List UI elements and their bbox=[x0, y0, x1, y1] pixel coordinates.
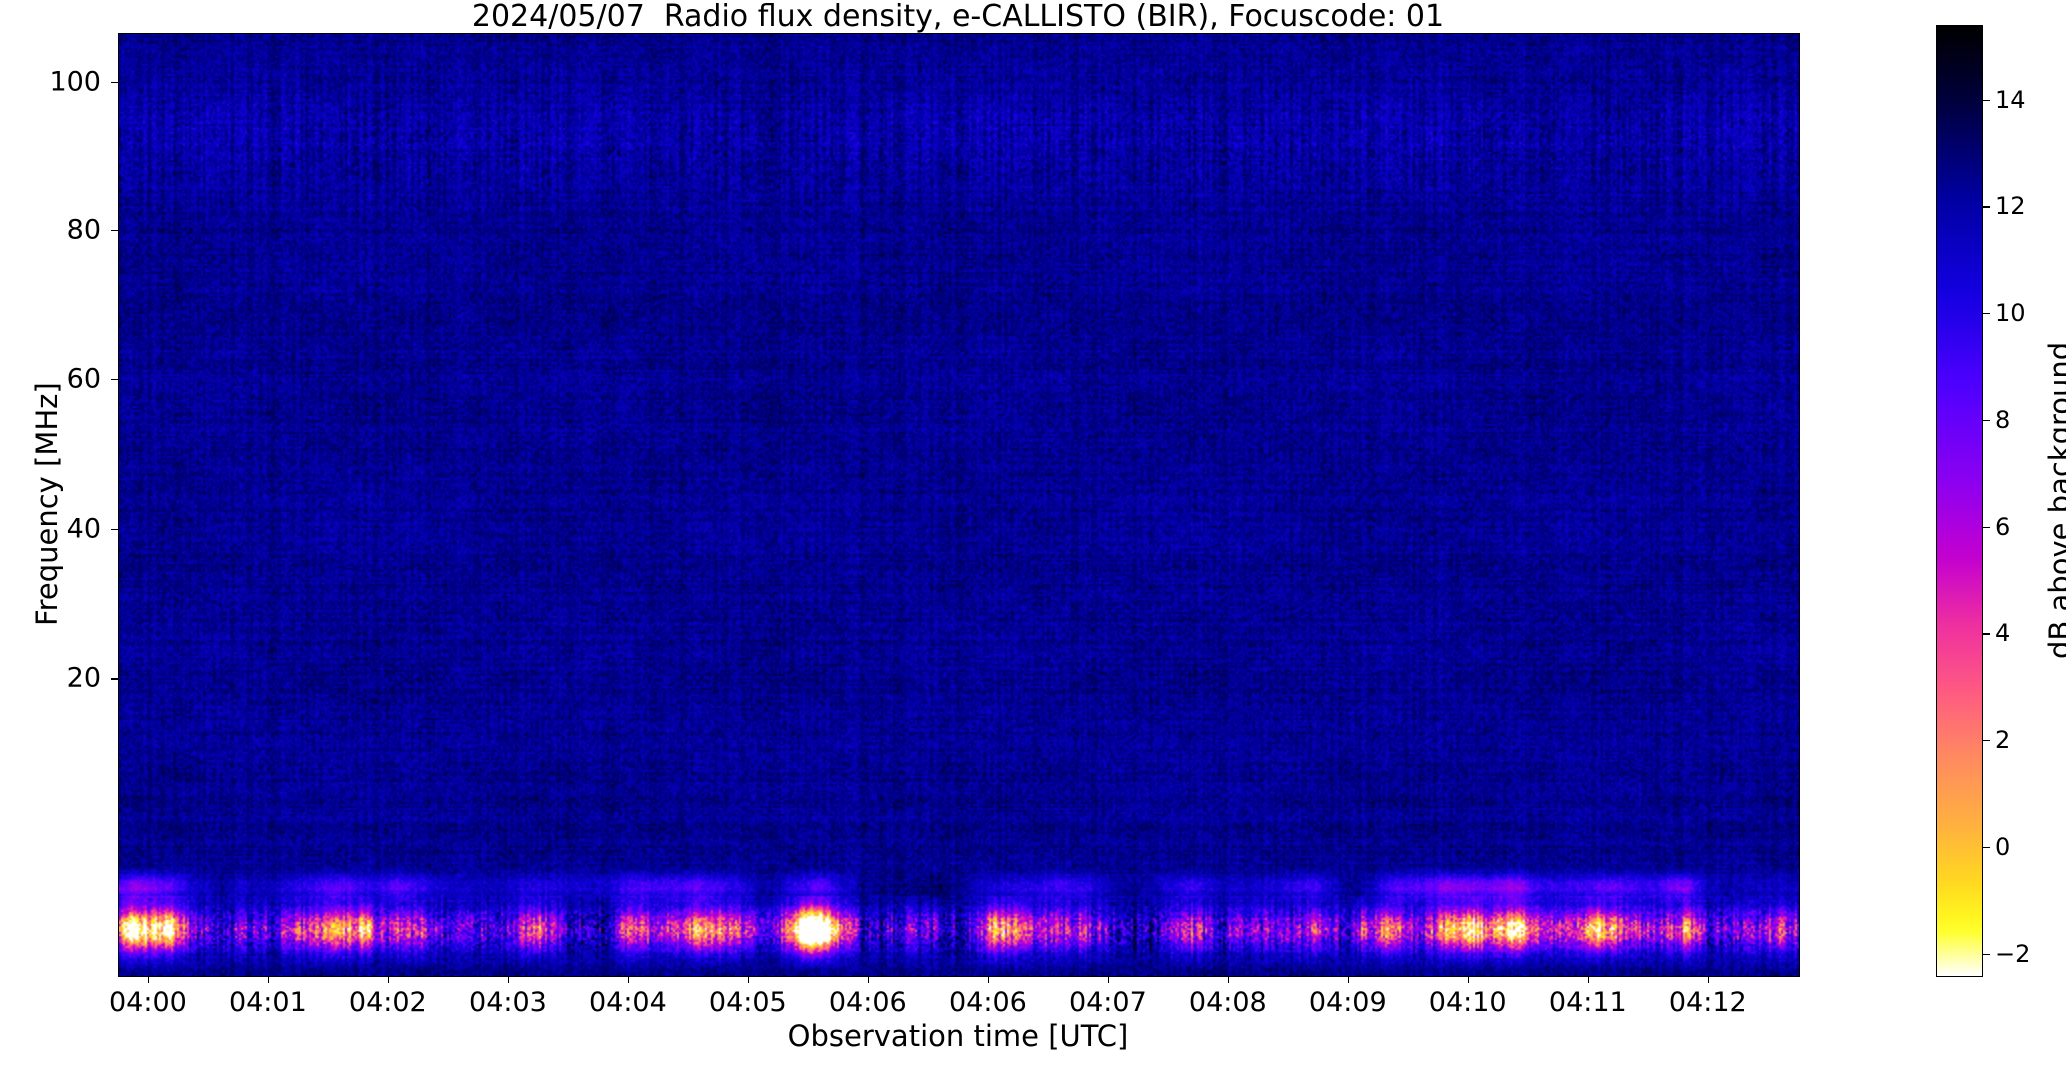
y-tick-label: 80 bbox=[1, 214, 101, 245]
y-tick-label: 20 bbox=[1, 663, 101, 694]
colorbar-tick-mark bbox=[1983, 847, 1990, 848]
x-tick-mark bbox=[1588, 976, 1589, 983]
x-tick-label: 04:07 bbox=[1069, 987, 1147, 1018]
y-tick-mark bbox=[111, 82, 118, 83]
x-tick-mark bbox=[268, 976, 269, 983]
colorbar-tick-label: −2 bbox=[1995, 940, 2030, 968]
page-title: 2024/05/07 Radio flux density, e-CALLIST… bbox=[118, 2, 1798, 32]
colorbar-tick-label: 2 bbox=[1995, 726, 2010, 754]
x-tick-label: 04:11 bbox=[1549, 987, 1627, 1018]
colorbar-tick-label: 12 bbox=[1995, 192, 2026, 220]
spectrogram-image[interactable] bbox=[119, 34, 1799, 976]
x-tick-label: 04:06 bbox=[949, 987, 1027, 1018]
x-tick-label: 04:01 bbox=[229, 987, 307, 1018]
x-tick-mark bbox=[1228, 976, 1229, 983]
colorbar-tick-mark bbox=[1983, 740, 1990, 741]
colorbar-tick-mark bbox=[1983, 100, 1990, 101]
colorbar-tick-label: 14 bbox=[1995, 86, 2026, 114]
colorbar-tick-label: 8 bbox=[1995, 406, 2010, 434]
x-tick-label: 04:05 bbox=[709, 987, 787, 1018]
y-tick-mark bbox=[111, 379, 118, 380]
colorbar-gradient bbox=[1937, 26, 1982, 976]
colorbar-tick-mark bbox=[1983, 420, 1990, 421]
colorbar[interactable] bbox=[1936, 25, 1983, 977]
x-tick-mark bbox=[388, 976, 389, 983]
x-tick-label: 04:06 bbox=[829, 987, 907, 1018]
spectrogram-figure: 2024/05/07 Radio flux density, e-CALLIST… bbox=[0, 0, 2066, 1067]
y-tick-mark bbox=[111, 529, 118, 530]
colorbar-tick-label: 6 bbox=[1995, 513, 2010, 541]
colorbar-tick-label: 4 bbox=[1995, 619, 2010, 647]
x-tick-mark bbox=[748, 976, 749, 983]
y-tick-mark bbox=[111, 230, 118, 231]
spectrogram-axes[interactable] bbox=[118, 33, 1800, 977]
x-tick-label: 04:10 bbox=[1429, 987, 1507, 1018]
colorbar-tick-mark bbox=[1983, 206, 1990, 207]
colorbar-tick-mark bbox=[1983, 527, 1990, 528]
x-tick-mark bbox=[988, 976, 989, 983]
y-tick-mark bbox=[111, 678, 118, 679]
colorbar-tick-label: 10 bbox=[1995, 299, 2026, 327]
colorbar-label: dB above background bbox=[2043, 341, 2066, 658]
x-tick-mark bbox=[1468, 976, 1469, 983]
y-tick-label: 100 bbox=[1, 66, 101, 97]
x-tick-label: 04:03 bbox=[469, 987, 547, 1018]
x-tick-mark bbox=[508, 976, 509, 983]
x-tick-label: 04:04 bbox=[589, 987, 667, 1018]
x-tick-mark bbox=[148, 976, 149, 983]
y-axis-label: Frequency [MHz] bbox=[30, 382, 64, 626]
x-tick-mark bbox=[1708, 976, 1709, 983]
x-tick-mark bbox=[1348, 976, 1349, 983]
x-tick-mark bbox=[628, 976, 629, 983]
x-axis-label: Observation time [UTC] bbox=[118, 1019, 1798, 1053]
colorbar-tick-label: 0 bbox=[1995, 833, 2010, 861]
x-tick-mark bbox=[868, 976, 869, 983]
x-tick-label: 04:08 bbox=[1189, 987, 1267, 1018]
x-tick-label: 04:02 bbox=[349, 987, 427, 1018]
colorbar-tick-mark bbox=[1983, 313, 1990, 314]
x-tick-label: 04:09 bbox=[1309, 987, 1387, 1018]
x-tick-label: 04:00 bbox=[109, 987, 187, 1018]
colorbar-tick-mark bbox=[1983, 633, 1990, 634]
x-tick-label: 04:12 bbox=[1669, 987, 1747, 1018]
colorbar-tick-mark bbox=[1983, 954, 1990, 955]
x-tick-mark bbox=[1108, 976, 1109, 983]
